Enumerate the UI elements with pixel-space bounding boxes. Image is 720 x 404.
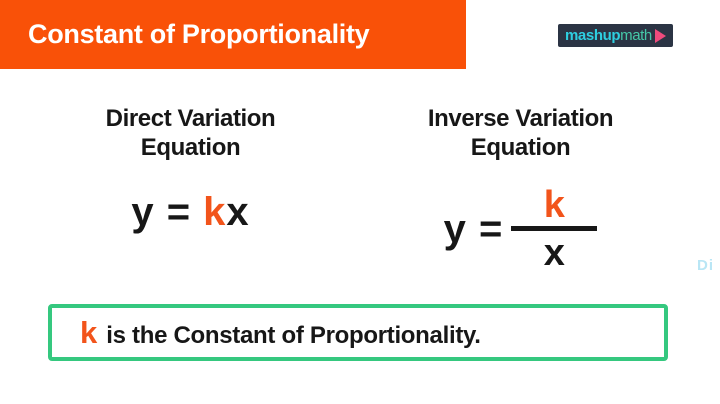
inverse-equation-lhs: y =	[444, 209, 504, 249]
edge-watermark-text: Di	[697, 257, 714, 274]
direct-variation-heading-line2: Equation	[38, 133, 343, 162]
direct-equation-lhs: y =	[131, 190, 203, 234]
mashupmath-logo: mashupmath	[558, 24, 673, 47]
fraction-numerator-k: k	[544, 186, 565, 226]
inverse-variation-heading-group: Inverse Variation Equation	[368, 104, 673, 163]
inverse-variation-heading-line1: Inverse Variation	[368, 104, 673, 133]
direct-variation-equation: y = kx	[38, 192, 343, 232]
callout-k-symbol: k	[80, 317, 97, 348]
slide-canvas: Constant of Proportionality mashupmath D…	[0, 0, 720, 404]
direct-equation-k-variable: k	[203, 190, 226, 234]
inverse-variation-equation: y = k x	[368, 186, 673, 272]
inverse-variation-heading-line2: Equation	[368, 133, 673, 162]
callout-content: k is the Constant of Proportionality.	[52, 317, 481, 348]
page-title: Constant of Proportionality	[0, 21, 369, 48]
direct-equation-x-variable: x	[226, 190, 249, 234]
logo-text-math: math	[620, 28, 652, 43]
inverse-equation-fraction: k x	[511, 186, 597, 272]
callout-statement-text: is the Constant of Proportionality.	[106, 324, 480, 348]
title-banner: Constant of Proportionality	[0, 0, 466, 69]
play-triangle-icon	[655, 29, 666, 43]
constant-of-proportionality-callout: k is the Constant of Proportionality.	[48, 304, 668, 361]
direct-variation-heading-group: Direct Variation Equation	[38, 104, 343, 163]
fraction-denominator-x: x	[544, 231, 565, 272]
logo-text-mashup: mashup	[565, 28, 620, 43]
direct-variation-heading-line1: Direct Variation	[38, 104, 343, 133]
